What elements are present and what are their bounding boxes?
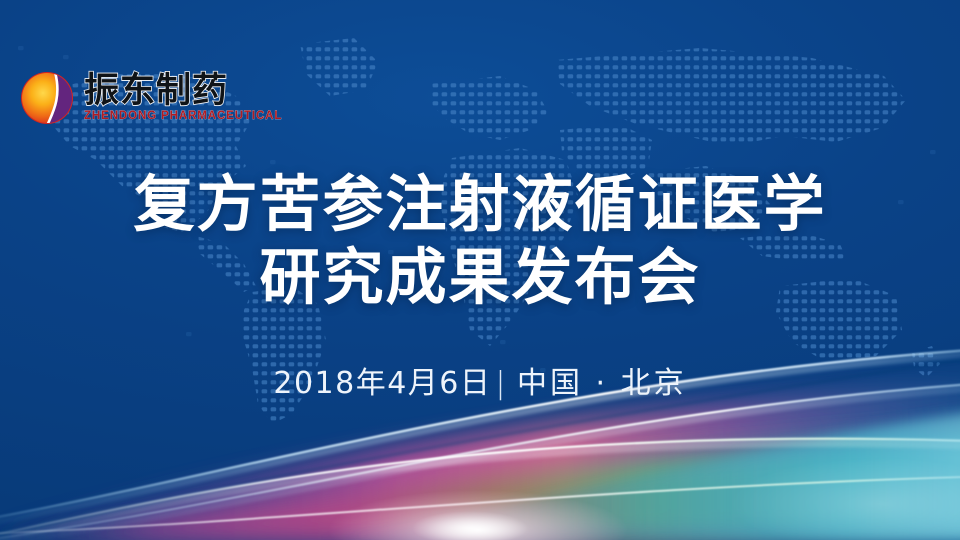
company-name-en: ZHENDONG PHARMACEUTICAL xyxy=(84,110,282,122)
event-title: 复方苦参注射液循证医学 研究成果发布会 xyxy=(0,168,960,314)
zhendong-circle-mark-icon xyxy=(18,68,78,128)
brand-logo[interactable]: 振东制药 ZHENDONG PHARMACEUTICAL xyxy=(18,62,282,134)
event-place: 中国 · 北京 xyxy=(517,366,687,401)
event-banner: 振东制药 ZHENDONG PHARMACEUTICAL 复方苦参注射液循证医学… xyxy=(0,0,960,540)
event-date: 2018年4月6日 xyxy=(273,366,491,401)
company-name-cn: 振东制药 xyxy=(84,74,282,110)
brand-logo-text: 振东制药 ZHENDONG PHARMACEUTICAL xyxy=(84,74,282,123)
aurora-ribbon xyxy=(0,290,960,540)
event-title-line-2: 研究成果发布会 xyxy=(0,241,960,314)
event-meta: 2018年4月6日|中国 · 北京 xyxy=(0,358,960,402)
event-title-line-1: 复方苦参注射液循证医学 xyxy=(0,168,960,241)
meta-separator: | xyxy=(495,366,507,401)
